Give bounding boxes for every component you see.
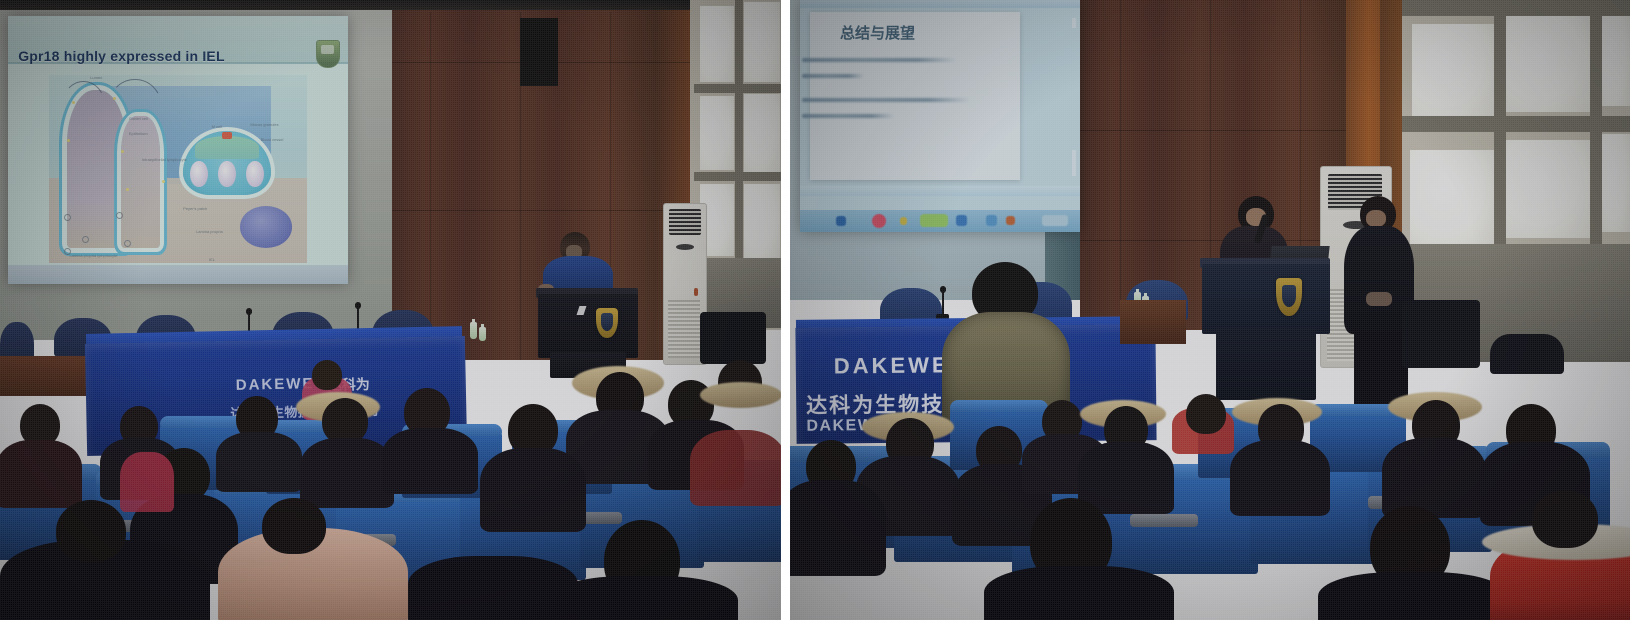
taskbar-icon[interactable] (1006, 216, 1015, 225)
diagram-dome-region (195, 136, 258, 159)
diagram-follicle (190, 161, 208, 188)
audience-person (1186, 394, 1226, 434)
audience-person-body (216, 432, 302, 492)
podium-base (1216, 328, 1316, 400)
diagram-arrow (108, 79, 162, 107)
side-table (1120, 300, 1186, 344)
taskbar-icon[interactable] (986, 215, 997, 226)
scrollbar-track[interactable] (1072, 150, 1076, 176)
taskbar-icon[interactable] (920, 214, 948, 227)
audience-person-front (1532, 490, 1598, 548)
ac-grill-icon (669, 209, 701, 235)
podium-marking (577, 306, 587, 315)
podium-crest-icon (596, 308, 618, 338)
diagram-label: Lumen (90, 75, 102, 80)
window-mullion (1402, 0, 1630, 16)
intestinal-mucosa-diagram: Lumen Goblet cell Epithelium Mucus granu… (49, 75, 307, 263)
audience-person (312, 360, 342, 390)
lecture-photo-right: 总结与展望 (790, 0, 1630, 620)
fur-collar (700, 382, 781, 408)
audience-person-body (408, 556, 578, 620)
audience-person-body (300, 438, 394, 508)
audience-person-body (984, 566, 1174, 620)
taskbar-icon[interactable] (872, 214, 886, 228)
audience-person-body (1382, 438, 1486, 518)
dark-chair-right (700, 312, 766, 364)
window-pane (744, 2, 780, 82)
table-brand-en: DAKEWE (834, 352, 950, 379)
taskbar-icon[interactable] (900, 217, 907, 225)
wall-seam (1080, 130, 1380, 131)
wall-seam (392, 210, 692, 211)
audience-person-front (262, 498, 326, 554)
audience-person-body (382, 428, 478, 494)
windows-taskbar[interactable] (800, 210, 1080, 232)
lecture-photo-left: Gpr18 highly expressed in IEL (0, 0, 781, 620)
taskbar-icon[interactable] (836, 216, 846, 226)
slide-body-line (802, 74, 864, 78)
diagram-granule (126, 188, 129, 191)
ac-indicator-icon (694, 288, 698, 296)
audience-person-body (1230, 440, 1330, 516)
ppt-statusbar (800, 186, 1080, 196)
lecture-hall-right: 总结与展望 (790, 0, 1630, 620)
equipment-box (1402, 300, 1480, 368)
audience-red-jacket (120, 452, 174, 512)
diagram-label: Lamina propria (196, 229, 223, 234)
audience-person-body (1078, 442, 1174, 514)
slide-title-right: 总结与展望 (840, 22, 915, 43)
scrollbar-thumb[interactable] (1072, 18, 1076, 28)
person-face (1366, 210, 1386, 227)
diagram-label: Intraepithelial lymphocyte (142, 157, 187, 162)
window-pane (1412, 24, 1494, 118)
window-pane (1506, 16, 1590, 112)
window-pane (744, 184, 780, 258)
diagram-label: IEL (209, 257, 215, 262)
ac-lower-vent (668, 300, 700, 358)
slide-page-right: 总结与展望 (810, 12, 1020, 180)
taskbar-icon[interactable] (956, 215, 967, 226)
audience-seat-rim (950, 400, 1048, 412)
slide-title-left: Gpr18 highly expressed in IEL (18, 48, 225, 64)
photo-divider (781, 0, 790, 620)
window-pane (1600, 10, 1630, 106)
seat-armrest (1130, 514, 1198, 527)
slide-body-line (802, 98, 970, 102)
projection-screen-left: Gpr18 highly expressed in IEL (8, 16, 348, 284)
podium-right (1202, 264, 1330, 334)
diagram-label: Peyer's patch (183, 206, 207, 211)
diagram-granule (67, 139, 70, 142)
diagram-m-cell (222, 132, 233, 138)
photo-composite: Gpr18 highly expressed in IEL (0, 0, 1630, 620)
wall-seam (430, 12, 431, 360)
podium-left (538, 294, 638, 358)
window-pane (744, 94, 780, 172)
ac-badge-icon (676, 244, 694, 250)
window-mullion (694, 84, 781, 93)
diagram-lymph-node (240, 206, 292, 247)
window-mullion (735, 0, 743, 300)
diagram-follicle (218, 161, 236, 188)
window-mullion (694, 172, 781, 181)
lecture-hall-left: Gpr18 highly expressed in IEL (0, 0, 781, 620)
taskbar-clock[interactable] (1042, 215, 1068, 226)
diagram-arrow (62, 81, 105, 106)
diagram-villus (67, 90, 126, 248)
water-bottle (479, 327, 486, 341)
diagram-follicle (246, 161, 264, 188)
equipment-bag (1490, 334, 1564, 374)
window-pane (700, 96, 734, 170)
audience-red-coat (690, 430, 781, 506)
wall-speaker-box (520, 18, 558, 86)
window-pane (700, 6, 734, 82)
slide-body-line (802, 58, 956, 62)
ppt-titlebar (800, 0, 1080, 8)
window-mullion (1402, 116, 1630, 132)
window-pane (1410, 150, 1494, 248)
diagram-label: Mucus granules (250, 122, 278, 127)
diagram-cell (124, 240, 131, 247)
slide-footer (8, 265, 348, 284)
person-hands (1366, 292, 1392, 306)
diagram-label: Goblet cell (129, 116, 148, 121)
diagram-label: Lamina propria lymphocyte (69, 253, 117, 258)
diagram-label: Epithelium (129, 131, 148, 136)
microphone-icon (942, 290, 944, 316)
podium-crest-icon (1276, 278, 1302, 316)
projection-screen-right: 总结与展望 (800, 0, 1080, 232)
audience-person-body (480, 448, 586, 532)
window-pane (1602, 134, 1630, 232)
water-bottle (470, 322, 477, 339)
audience-person-body (790, 480, 886, 576)
person-legs (1354, 332, 1408, 406)
audience-person-body (1318, 572, 1508, 620)
diagram-label: M cell (212, 124, 222, 129)
audience-person-front (56, 500, 126, 562)
university-crest-icon (316, 40, 340, 68)
audience-person-body (0, 440, 82, 508)
wall-seam (1120, 0, 1121, 330)
slide-body-line (802, 114, 894, 118)
window-pane (1506, 140, 1590, 238)
diagram-cell (116, 212, 123, 219)
diagram-label: Blood vessel (261, 137, 284, 142)
